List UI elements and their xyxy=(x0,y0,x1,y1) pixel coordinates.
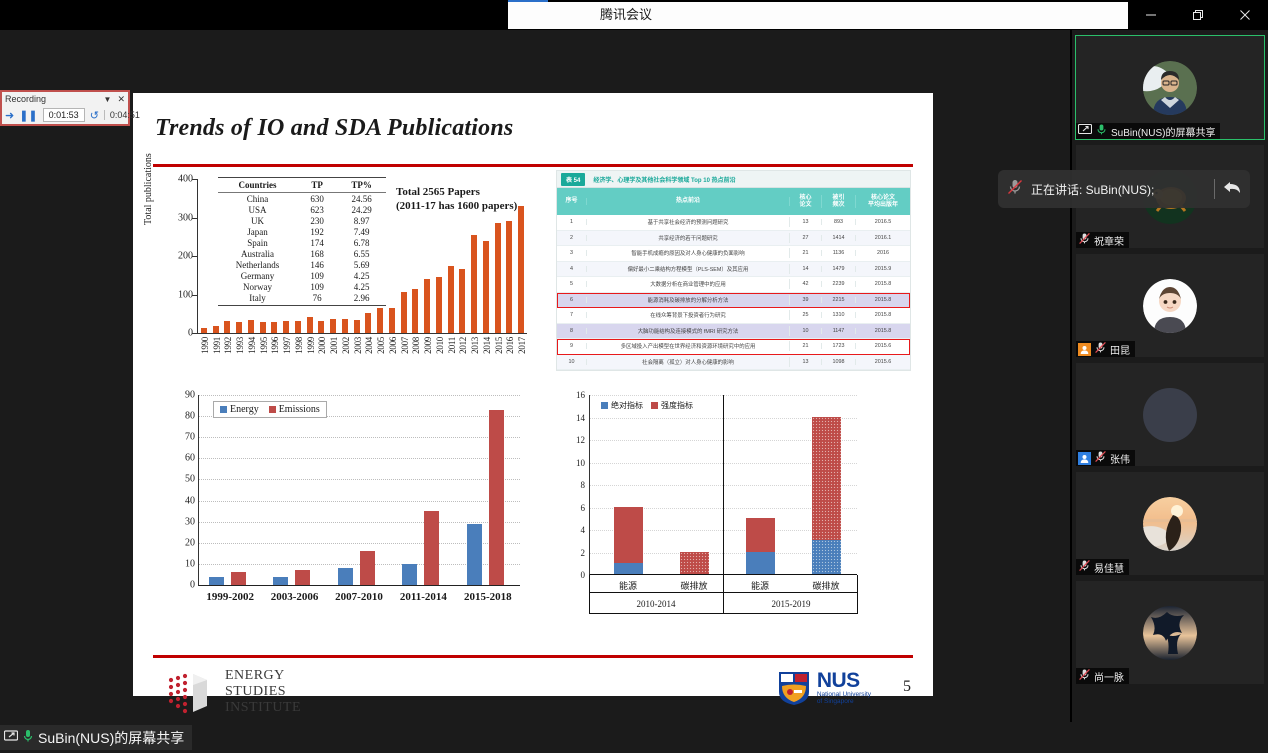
cn-table-cell: 2239 xyxy=(822,281,856,287)
close-icon[interactable] xyxy=(1221,0,1268,30)
cn-table-cell: 7 xyxy=(557,312,587,318)
chart3-y-tick-label: 6 xyxy=(551,503,585,513)
chart1-y-tick-mark xyxy=(192,333,197,334)
chart1-x-tick-label: 1990 xyxy=(200,337,210,354)
esi-line-1: ENERGY xyxy=(225,668,301,684)
chart1-y-tick-label: 400 xyxy=(163,174,193,185)
cn-table-cell: 偏好最小二乘结构方程模型（PLS-SEM）及其应用 xyxy=(587,264,790,274)
slide-title: Trends of IO and SDA Publications xyxy=(155,115,513,142)
chart1-bar xyxy=(448,266,454,333)
cn-table-col-header: 核心论文平均出版年 xyxy=(856,195,910,209)
countries-cell: 146 xyxy=(297,259,337,270)
cn-table-cell: 14 xyxy=(790,266,822,272)
chart2-y-tick-label: 80 xyxy=(151,411,195,422)
chart3-y-tick-label: 4 xyxy=(551,525,585,535)
cn-table-row: 6能源消耗及碳排放的分解分析方法3922152015.8 xyxy=(557,293,910,309)
participant-tile[interactable]: SuBin(NUS)的屏幕共享 xyxy=(1076,36,1264,139)
chart3-stacked-bar xyxy=(680,552,709,575)
countries-table-row: Netherlands1465.69 xyxy=(218,259,386,270)
chart1-bar xyxy=(260,322,266,333)
participant-nameplate: 张伟 xyxy=(1076,450,1135,466)
mic-on-icon xyxy=(1095,123,1108,139)
cn-table-cell: 25 xyxy=(790,312,822,318)
chart1-bar xyxy=(295,321,301,333)
cn-table-cell: 27 xyxy=(790,235,822,241)
cn-table-cell: 2215 xyxy=(822,297,856,303)
chart1-x-tick-label: 2014 xyxy=(482,337,492,354)
legend-swatch-absolute xyxy=(601,402,608,409)
avatar xyxy=(1143,606,1197,660)
mic-off-icon xyxy=(1094,341,1107,357)
mic-off-icon xyxy=(1078,559,1091,575)
countries-cell: China xyxy=(218,193,297,205)
chart3-y-tick-label: 2 xyxy=(551,548,585,558)
cn-table-cell: 3 xyxy=(557,250,587,256)
chart1-bar xyxy=(342,319,348,333)
chart2-bar xyxy=(424,511,439,585)
cn-table-badge: 表 54 xyxy=(561,173,585,186)
speaking-toast[interactable]: 正在讲话: SuBin(NUS); xyxy=(998,170,1250,208)
divider-bottom xyxy=(153,655,913,658)
chart2-y-tick-label: 0 xyxy=(151,580,195,591)
chart1-bar xyxy=(506,221,512,333)
chart1-x-tick-label: 2011 xyxy=(447,337,457,353)
countries-table-row: Australia1686.55 xyxy=(218,248,386,259)
close-icon[interactable]: ✕ xyxy=(117,94,125,105)
participant-nameplate: SuBin(NUS)的屏幕共享 xyxy=(1076,123,1220,139)
participant-name: 祝章荣 xyxy=(1094,233,1124,248)
cn-table-cell: 2015.8 xyxy=(856,328,910,334)
presentation-slide: Trends of IO and SDA Publications Total … xyxy=(133,93,933,696)
cn-table-cell: 智能手机成瘾的原因及对人身心健康的负面影响 xyxy=(587,248,790,258)
countries-col-header: Countries xyxy=(218,178,297,193)
cn-table-cell: 2016 xyxy=(856,250,910,256)
cn-table-cell: 共享经济的若干问题研究 xyxy=(587,233,790,243)
chart3-group-divider xyxy=(723,395,724,613)
chart1-y-tick-label: 300 xyxy=(163,212,193,223)
recording-toolbar-controls: ➜ ❚❚ 0:01:53 ↺ 0:04:51 xyxy=(2,106,128,124)
chart3-x-tick-label: 碳排放 xyxy=(665,579,723,592)
chart3-y-tick-label: 14 xyxy=(551,413,585,423)
chart-publications-by-year: Total publications 0100200300400 1990199… xyxy=(151,173,541,373)
nus-crest-icon xyxy=(777,670,811,706)
countries-cell: Netherlands xyxy=(218,259,297,270)
chart2-x-tick-label: 1999-2002 xyxy=(198,591,262,603)
page-number: 5 xyxy=(903,678,911,696)
nus-logo: NUS National University of Singapore xyxy=(777,670,871,706)
countries-cell: 76 xyxy=(297,292,337,305)
avatar xyxy=(1143,61,1197,115)
participant-name: 易佳慧 xyxy=(1094,560,1124,575)
chart1-bar xyxy=(483,241,489,333)
chart1-bar xyxy=(201,328,207,333)
recording-toolbar-header: Recording ▼ ✕ xyxy=(2,92,128,106)
chart1-bar xyxy=(330,319,336,333)
mic-off-icon xyxy=(1078,232,1091,248)
chart1-bar xyxy=(389,308,395,333)
countries-cell: 168 xyxy=(297,248,337,259)
legend-label-energy: Energy xyxy=(230,404,259,415)
reply-arrow-icon[interactable] xyxy=(1222,179,1242,200)
next-arrow-icon[interactable]: ➜ xyxy=(5,109,14,122)
chart3-group-label: 2015-2019 xyxy=(724,599,858,609)
cn-table-row: 2共享经济的若干问题研究2714142016.1 xyxy=(557,231,910,247)
chart1-x-tick-label: 1997 xyxy=(282,337,292,354)
screen-share-icon xyxy=(1078,124,1092,139)
chart3-segment-absolute xyxy=(614,563,643,574)
cn-table-col-header: 核心论文 xyxy=(790,195,822,209)
legend-label-intensity: 强度指标 xyxy=(661,400,693,411)
legend-item-intensity: 强度指标 xyxy=(651,400,693,411)
chart3-segment-absolute xyxy=(746,552,775,575)
countries-cell: 6.78 xyxy=(337,237,386,248)
cn-table-cell: 893 xyxy=(822,219,856,225)
countries-table-row: China63024.56 xyxy=(218,193,386,205)
chart2-bar xyxy=(273,577,288,585)
window-title: 腾讯会议 xyxy=(600,6,800,26)
chart3-y-tick-label: 12 xyxy=(551,435,585,445)
chart1-bar xyxy=(459,269,465,333)
window-controls xyxy=(1128,0,1268,30)
chart1-x-tick-label: 2009 xyxy=(423,337,433,354)
chart1-y-axis-label: Total publications xyxy=(143,153,154,225)
countries-cell: 4.25 xyxy=(337,281,386,292)
countries-table-row: Italy762.96 xyxy=(218,292,386,305)
chart2-y-tick-label: 90 xyxy=(151,390,195,401)
countries-cell: 630 xyxy=(297,193,337,205)
pause-icon[interactable]: ❚❚ xyxy=(19,109,37,122)
cn-table-cell: 2015.9 xyxy=(856,266,910,272)
chart3-segment-intensity xyxy=(812,417,841,541)
chart1-x-tick-label: 2016 xyxy=(505,337,515,354)
countries-table-row: Germany1094.25 xyxy=(218,270,386,281)
cn-table-cell: 9 xyxy=(557,343,587,349)
chart2-x-tick-label: 2015-2018 xyxy=(456,591,520,603)
chart1-x-tick-label: 2015 xyxy=(494,337,504,354)
chart2-bar-group xyxy=(328,395,392,585)
participants-panel[interactable]: SuBin(NUS)的屏幕共享祝章荣田昆张伟易佳慧尚一脉 xyxy=(1072,30,1268,722)
cn-hotspots-table: 表 54 经济学、心理学及其他社会科学领域 Top 10 热点前沿 序号热点前沿… xyxy=(556,170,911,371)
chart1-bar xyxy=(213,326,219,333)
chart1-x-tick-label: 1998 xyxy=(294,337,304,354)
countries-cell: 623 xyxy=(297,204,337,215)
cn-table-col-header: 序号 xyxy=(557,198,587,205)
participant-tile[interactable]: 张伟 xyxy=(1076,363,1264,466)
chart1-x-tick-label: 2002 xyxy=(341,337,351,354)
chart1-bar xyxy=(224,321,230,333)
chart3-x-tick-label: 能源 xyxy=(731,579,789,592)
esi-logo: ENERGY STUDIES INSTITUTE xyxy=(163,668,301,716)
nus-wordmark: NUS National University of Singapore xyxy=(817,671,871,706)
chart1-y-tick-mark xyxy=(192,179,197,180)
cn-table-cell: 13 xyxy=(790,219,822,225)
legend-label-absolute: 绝对指标 xyxy=(611,400,643,411)
avatar xyxy=(1143,279,1197,333)
chart1-y-tick-mark xyxy=(192,218,197,219)
cn-table-cell: 21 xyxy=(790,343,822,349)
cn-table-row: 3智能手机成瘾的原因及对人身心健康的负面影响2111362016 xyxy=(557,246,910,262)
countries-cell: 24.56 xyxy=(337,193,386,205)
chart1-y-tick-mark xyxy=(192,295,197,296)
participant-tile[interactable]: 田昆 xyxy=(1076,254,1264,357)
chart2-y-tick-label: 70 xyxy=(151,432,195,443)
cn-table-cell: 10 xyxy=(790,328,822,334)
chart2-bar xyxy=(489,410,504,585)
countries-table-row: Norway1094.25 xyxy=(218,281,386,292)
countries-cell: 2.96 xyxy=(337,292,386,305)
chart1-bar xyxy=(283,321,289,333)
legend-label-emissions: Emissions xyxy=(279,404,320,415)
chart1-bar xyxy=(424,279,430,333)
chart1-bar xyxy=(377,308,383,333)
chart1-bar xyxy=(236,322,242,333)
mic-off-icon xyxy=(1078,668,1091,684)
chart2-legend: Energy Emissions xyxy=(213,401,327,418)
cn-table-cell: 大数据分析在商业管理中的应用 xyxy=(587,279,790,289)
cn-table-cell: 1310 xyxy=(822,312,856,318)
cn-table-row: 1基于共享社会经济的预测问题研究138932016.5 xyxy=(557,215,910,231)
participant-name: 田昆 xyxy=(1110,342,1130,357)
speaking-toast-text: 正在讲话: SuBin(NUS); xyxy=(1031,181,1207,198)
countries-cell: 6.55 xyxy=(337,248,386,259)
total-papers-note: Total 2565 Papers (2011-17 has 1600 pape… xyxy=(396,185,517,213)
chevron-down-icon[interactable]: ▼ xyxy=(104,95,112,104)
participant-nameplate: 易佳慧 xyxy=(1076,559,1129,575)
cn-table-cell: 能源消耗及碳排放的分解分析方法 xyxy=(587,295,790,305)
chart3-segment-intensity xyxy=(746,518,775,552)
cn-table-cell: 社会隔离（孤立）对人身心健康的影响 xyxy=(587,357,790,367)
chart3-y-tick-label: 8 xyxy=(551,480,585,490)
chart1-bar xyxy=(271,322,277,333)
legend-item-emissions: Emissions xyxy=(269,404,320,415)
cn-table-cell: 大脑功能结构及连接模式的 fMRI 研究方法 xyxy=(587,326,790,336)
cn-table-caption: 表 54 经济学、心理学及其他社会科学领域 Top 10 热点前沿 xyxy=(557,171,910,188)
avatar xyxy=(1143,497,1197,551)
chart1-bar xyxy=(365,313,371,333)
legend-swatch-emissions xyxy=(269,406,276,413)
recording-total-time: 0:04:51 xyxy=(104,110,140,120)
countries-cell: Japan xyxy=(218,226,297,237)
countries-cell: 7.49 xyxy=(337,226,386,237)
cn-table-cell: 基于共享社会经济的预测问题研究 xyxy=(587,217,790,227)
chart1-x-tick-label: 2004 xyxy=(364,337,374,354)
chart2-bar xyxy=(360,551,375,585)
total-papers-line2: (2011-17 has 1600 papers) xyxy=(396,199,517,213)
chart2-x-tick-label: 2007-2010 xyxy=(327,591,391,603)
countries-cell: 24.29 xyxy=(337,204,386,215)
minimize-icon[interactable] xyxy=(1128,0,1175,30)
chart2-bar-group xyxy=(199,395,263,585)
chart2-bar xyxy=(402,564,417,585)
chart3-y-tick-label: 10 xyxy=(551,458,585,468)
countries-table-row: UK2308.97 xyxy=(218,215,386,226)
esi-line-3: INSTITUTE xyxy=(225,700,301,716)
chart1-x-tick-label: 2001 xyxy=(329,337,339,354)
chart1-x-tick-label: 2012 xyxy=(458,337,468,354)
cn-table-cell: 4 xyxy=(557,266,587,272)
participant-nameplate: 田昆 xyxy=(1076,341,1135,357)
chart3-stacked-bar xyxy=(746,518,775,574)
taskbar-item-label: SuBin(NUS)的屏幕共享 xyxy=(38,728,184,748)
cn-table-caption-text: 经济学、心理学及其他社会科学领域 Top 10 热点前沿 xyxy=(593,175,735,184)
cn-table-cell: 2015.6 xyxy=(856,343,910,349)
countries-cell: USA xyxy=(218,204,297,215)
chart1-x-axis xyxy=(197,333,527,334)
restore-icon[interactable] xyxy=(1175,0,1222,30)
chart1-y-tick-label: 200 xyxy=(163,251,193,262)
chart2-bar-group xyxy=(263,395,327,585)
chart1-y-tick-label: 0 xyxy=(163,328,193,339)
countries-cell: Australia xyxy=(218,248,297,259)
cn-table-row: 7在线众筹背景下投资者行为研究2513102015.8 xyxy=(557,308,910,324)
legend-swatch-energy xyxy=(220,406,227,413)
chart3-group-label: 2010-2014 xyxy=(589,599,723,609)
legend-item-energy: Energy xyxy=(220,404,259,415)
countries-table-header: CountriesTPTP% xyxy=(218,178,386,193)
countries-col-header: TP% xyxy=(337,178,386,193)
countries-table-body: China63024.56USA62324.29UK2308.97Japan19… xyxy=(218,193,386,306)
participant-name: 尚一脉 xyxy=(1094,669,1124,684)
cn-table-cell: 2016.1 xyxy=(856,235,910,241)
chart1-x-tick-label: 1993 xyxy=(235,337,245,354)
nus-acronym: NUS xyxy=(817,671,871,691)
cn-table-cell: 2016.5 xyxy=(856,219,910,225)
cn-table-cell: 10 xyxy=(557,359,587,365)
cn-table-cell: 1098 xyxy=(822,359,856,365)
chart1-x-tick-label: 1994 xyxy=(247,337,257,354)
app-window: 腾讯会议 Trends of IO and SDA Public xyxy=(0,0,1268,753)
cn-table-cell: 2015.8 xyxy=(856,297,910,303)
chart1-bar xyxy=(471,235,477,333)
divider-top xyxy=(153,164,913,167)
participant-role-icon xyxy=(1078,343,1091,356)
cn-table-cell: 1 xyxy=(557,219,587,225)
cn-table-row: 9多区域投入产出模型在世界经济和资源环境研究中的应用2117232015.6 xyxy=(557,339,910,355)
cn-table-header-row: 序号热点前沿核心论文被引频次核心论文平均出版年 xyxy=(557,188,910,215)
chart1-x-tick-label: 2013 xyxy=(470,337,480,354)
chart2-y-tick-label: 40 xyxy=(151,495,195,506)
chart2-y-tick-label: 50 xyxy=(151,474,195,485)
chart2-bar-group xyxy=(392,395,456,585)
chart1-y-tick-mark xyxy=(192,256,197,257)
countries-cell: 192 xyxy=(297,226,337,237)
esi-wordmark: ENERGY STUDIES INSTITUTE xyxy=(225,668,301,716)
chart1-x-tick-label: 1999 xyxy=(306,337,316,354)
chart2-bar xyxy=(209,577,224,585)
cn-table-row: 8大脑功能结构及连接模式的 fMRI 研究方法1011472015.8 xyxy=(557,324,910,340)
participant-nameplate: 祝章荣 xyxy=(1076,232,1129,248)
cn-table-cell: 1723 xyxy=(822,343,856,349)
chart1-x-tick-label: 2006 xyxy=(388,337,398,354)
countries-cell: Germany xyxy=(218,270,297,281)
chart-energy-emissions: 0102030405060708090 Energy Emissions 199… xyxy=(151,389,541,644)
undo-arrow-icon[interactable]: ↺ xyxy=(90,109,99,122)
participant-tile[interactable]: 尚一脉 xyxy=(1076,581,1264,684)
participant-tile[interactable]: 易佳慧 xyxy=(1076,472,1264,575)
chart1-x-tick-label: 2010 xyxy=(435,337,445,354)
chart2-bar xyxy=(338,568,353,585)
chart1-x-tick-label: 1991 xyxy=(212,337,222,354)
recording-elapsed-time: 0:01:53 xyxy=(43,108,85,122)
cn-table-cell: 13 xyxy=(790,359,822,365)
chart3-segment-intensity xyxy=(680,552,709,575)
countries-cell: 230 xyxy=(297,215,337,226)
chart3-legend: 绝对指标 强度指标 xyxy=(601,400,693,411)
chart2-y-tick-label: 60 xyxy=(151,453,195,464)
chart3-y-tick-label: 0 xyxy=(551,570,585,580)
countries-cell: 109 xyxy=(297,270,337,281)
taskbar-item-screen-share[interactable]: SuBin(NUS)的屏幕共享 xyxy=(0,725,192,750)
chart3-x-tick-label: 能源 xyxy=(599,579,657,592)
chart1-x-tick-label: 2007 xyxy=(400,337,410,354)
cn-table-row: 10社会隔离（孤立）对人身心健康的影响1310982015.6 xyxy=(557,355,910,371)
cn-table-cell: 2015.8 xyxy=(856,281,910,287)
countries-cell: Italy xyxy=(218,292,297,305)
cn-table-cell: 42 xyxy=(790,281,822,287)
chart3-stacked-bar xyxy=(614,507,643,575)
esi-mark-icon xyxy=(163,668,215,716)
screen-share-icon xyxy=(4,730,18,746)
cn-table-row: 4偏好最小二乘结构方程模型（PLS-SEM）及其应用1414792015.9 xyxy=(557,262,910,278)
participant-name: SuBin(NUS)的屏幕共享 xyxy=(1111,124,1215,139)
title-bar: 腾讯会议 xyxy=(0,0,1268,30)
countries-cell: 4.25 xyxy=(337,270,386,281)
cn-table-cell: 1136 xyxy=(822,250,856,256)
cn-table-row: 5大数据分析在商业管理中的应用4222392015.8 xyxy=(557,277,910,293)
countries-cell: 174 xyxy=(297,237,337,248)
taskbar: SuBin(NUS)的屏幕共享 xyxy=(0,722,1268,753)
countries-cell: UK xyxy=(218,215,297,226)
nus-subline-1: National University xyxy=(817,691,871,699)
chart1-x-tick-label: 1992 xyxy=(223,337,233,354)
chart3-y-tick-label: 16 xyxy=(551,390,585,400)
chart2-bar xyxy=(295,570,310,585)
chart1-x-tick-label: 2000 xyxy=(317,337,327,354)
cn-table-cell: 1479 xyxy=(822,266,856,272)
countries-cell: Spain xyxy=(218,237,297,248)
participant-name: 张伟 xyxy=(1110,451,1130,466)
chart2-y-tick-label: 30 xyxy=(151,516,195,527)
cn-table-cell: 多区域投入产出模型在世界经济和资源环境研究中的应用 xyxy=(587,341,790,351)
chart1-bar xyxy=(518,206,524,333)
chart3-segment-intensity xyxy=(614,507,643,563)
chart1-x-tick-label: 1995 xyxy=(259,337,269,354)
chart3-stacked-bar xyxy=(812,417,841,575)
countries-cell: 8.97 xyxy=(337,215,386,226)
chart1-x-tick-label: 1996 xyxy=(270,337,280,354)
cn-table-cell: 21 xyxy=(790,250,822,256)
chart2-y-tick-label: 20 xyxy=(151,537,195,548)
chart2-plot-area xyxy=(198,395,520,586)
recording-toolbar[interactable]: Recording ▼ ✕ ➜ ❚❚ 0:01:53 ↺ 0:04:51 xyxy=(0,90,130,126)
countries-table-row: Spain1746.78 xyxy=(218,237,386,248)
participant-nameplate: 尚一脉 xyxy=(1076,668,1129,684)
cn-table-cell: 在线众筹背景下投资者行为研究 xyxy=(587,310,790,320)
chart1-x-tick-label: 2005 xyxy=(376,337,386,354)
mic-off-icon xyxy=(1094,450,1107,466)
countries-col-header: TP xyxy=(297,178,337,193)
esi-line-2: STUDIES xyxy=(225,684,301,700)
cn-table-col-header: 热点前沿 xyxy=(587,197,790,206)
countries-cell: 5.69 xyxy=(337,259,386,270)
cn-table-cell: 1147 xyxy=(822,328,856,334)
chart2-bar xyxy=(467,524,482,585)
countries-cell: 109 xyxy=(297,281,337,292)
countries-table: CountriesTPTP% China63024.56USA62324.29U… xyxy=(218,177,386,306)
cn-table-col-header: 被引频次 xyxy=(822,195,856,209)
mic-off-icon xyxy=(1006,178,1024,201)
recording-label: Recording xyxy=(5,94,104,104)
